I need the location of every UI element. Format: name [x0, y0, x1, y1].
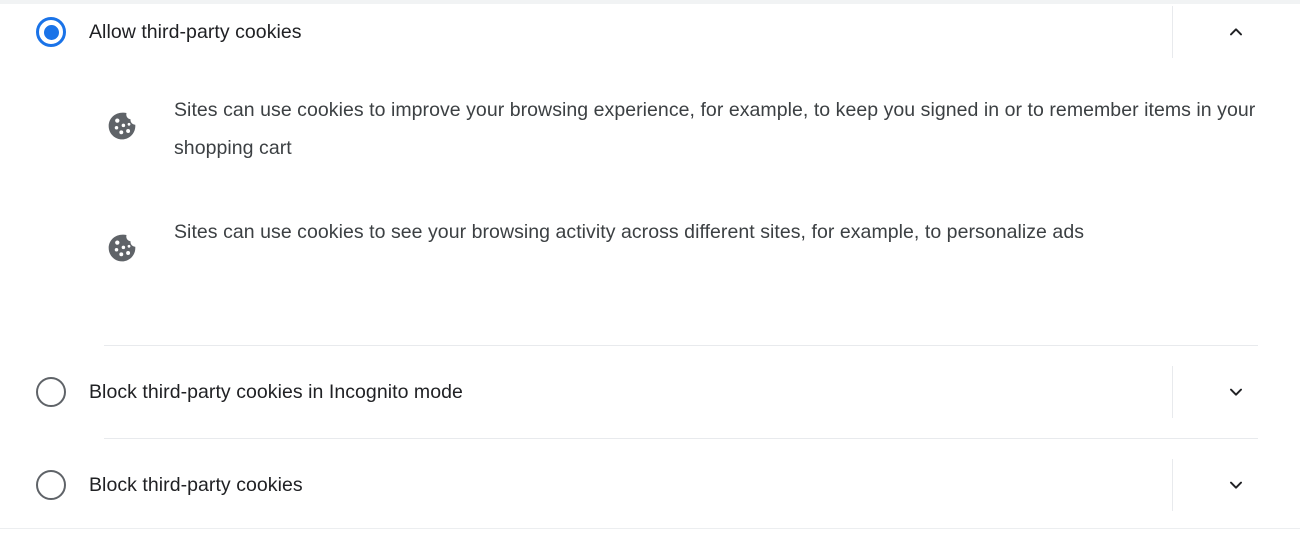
- radio-row-allow-third-party-cookies[interactable]: Allow third-party cookies: [0, 4, 1300, 60]
- expand-toggle-block-third-party-cookies[interactable]: [1172, 456, 1300, 513]
- detail-item: Sites can use cookies to improve your br…: [0, 92, 1300, 167]
- radio-button-block-third-party-cookies-incognito[interactable]: [36, 377, 66, 407]
- expand-toggle-allow-third-party-cookies[interactable]: [1172, 4, 1300, 60]
- section-divider: [104, 438, 1258, 439]
- detail-item: Sites can use cookies to see your browsi…: [0, 214, 1300, 264]
- radio-label-block-third-party-cookies-incognito: Block third-party cookies in Incognito m…: [89, 380, 463, 404]
- radio-label-allow-third-party-cookies: Allow third-party cookies: [89, 20, 302, 44]
- radio-row-block-third-party-cookies[interactable]: Block third-party cookies: [0, 456, 1300, 513]
- detail-text: Sites can use cookies to see your browsi…: [174, 214, 1264, 252]
- cookie-icon: [107, 110, 139, 142]
- radio-label-block-third-party-cookies: Block third-party cookies: [89, 473, 303, 497]
- radio-row-block-third-party-cookies-incognito[interactable]: Block third-party cookies in Incognito m…: [0, 363, 1300, 420]
- cookie-icon: [107, 232, 139, 264]
- radio-button-block-third-party-cookies[interactable]: [36, 470, 66, 500]
- chevron-down-icon: [1225, 474, 1247, 496]
- expand-toggle-block-third-party-cookies-incognito[interactable]: [1172, 363, 1300, 420]
- section-divider: [104, 345, 1258, 346]
- panel-bottom-divider: [0, 528, 1300, 529]
- settings-panel: Allow third-party cookies: [0, 0, 1300, 541]
- chevron-down-icon: [1225, 381, 1247, 403]
- detail-text: Sites can use cookies to improve your br…: [174, 92, 1264, 167]
- radio-button-allow-third-party-cookies[interactable]: [36, 17, 66, 47]
- chevron-up-icon: [1225, 21, 1247, 43]
